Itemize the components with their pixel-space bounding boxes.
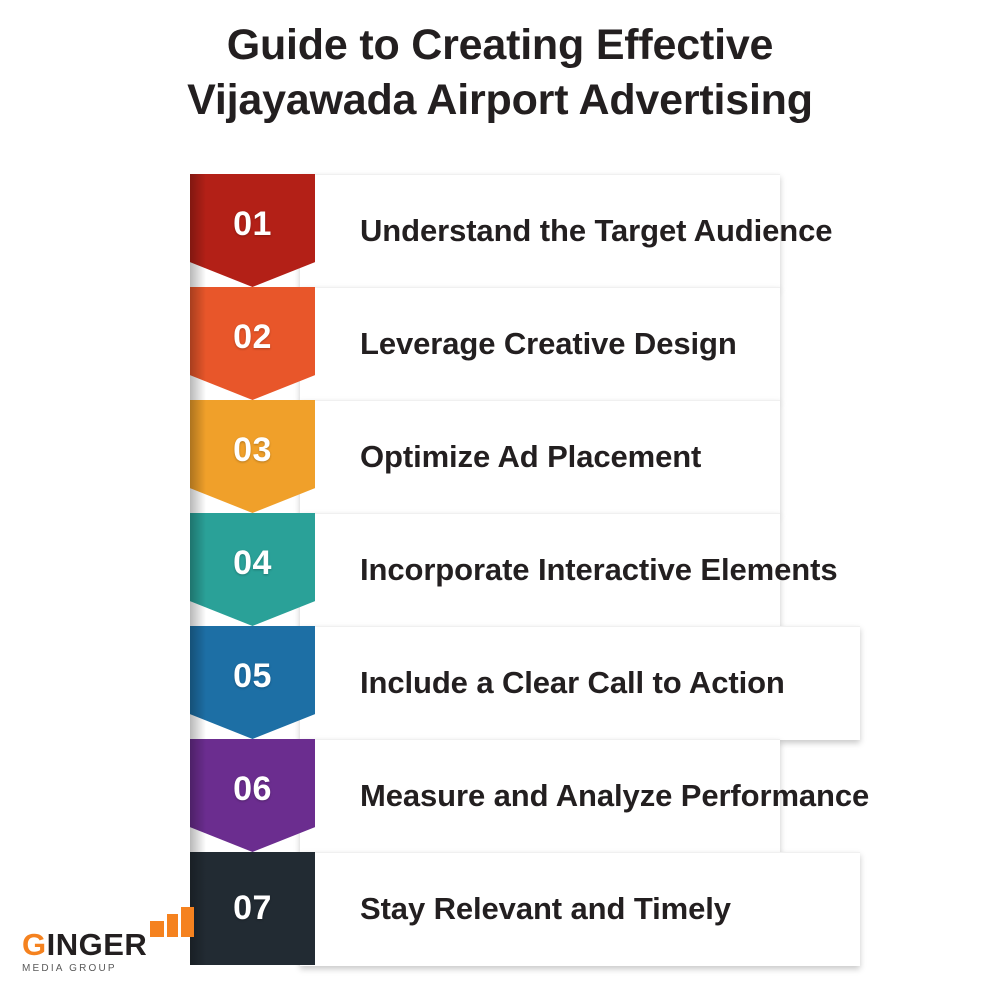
step-label: Optimize Ad Placement xyxy=(360,400,880,513)
list-item[interactable]: 04 Incorporate Interactive Elements xyxy=(190,513,890,626)
step-label: Stay Relevant and Timely xyxy=(360,852,880,965)
logo-initial: G xyxy=(22,927,47,962)
title-line-1: Guide to Creating Effective xyxy=(0,18,1000,73)
step-chevron-02: 02 xyxy=(190,287,315,400)
list-item[interactable]: 05 Include a Clear Call to Action xyxy=(190,626,890,739)
step-label: Measure and Analyze Performance xyxy=(360,739,880,852)
title-line-2: Vijayawada Airport Advertising xyxy=(0,73,1000,128)
logo-tagline: MEDIA GROUP xyxy=(22,963,222,974)
steps-list: 01 Understand the Target Audience 02 Lev… xyxy=(190,174,890,965)
step-number: 01 xyxy=(233,205,272,244)
step-label: Incorporate Interactive Elements xyxy=(360,513,880,626)
step-chevron-05: 05 xyxy=(190,626,315,739)
step-number: 02 xyxy=(233,318,272,357)
list-item[interactable]: 03 Optimize Ad Placement xyxy=(190,400,890,513)
step-chevron-06: 06 xyxy=(190,739,315,852)
step-label: Leverage Creative Design xyxy=(360,287,880,400)
list-item[interactable]: 06 Measure and Analyze Performance xyxy=(190,739,890,852)
step-chevron-04: 04 xyxy=(190,513,315,626)
list-item[interactable]: 02 Leverage Creative Design xyxy=(190,287,890,400)
page-title: Guide to Creating Effective Vijayawada A… xyxy=(0,18,1000,128)
step-number: 06 xyxy=(233,770,272,809)
step-number: 04 xyxy=(233,544,272,583)
ginger-bars-icon xyxy=(150,907,194,937)
list-item[interactable]: 01 Understand the Target Audience xyxy=(190,174,890,287)
step-chevron-03: 03 xyxy=(190,400,315,513)
step-number: 07 xyxy=(233,889,272,928)
step-label: Include a Clear Call to Action xyxy=(360,626,880,739)
step-number: 05 xyxy=(233,657,272,696)
logo[interactable]: GINGER MEDIA GROUP xyxy=(22,929,222,974)
step-chevron-01: 01 xyxy=(190,174,315,287)
step-label: Understand the Target Audience xyxy=(360,174,880,287)
logo-name: INGER xyxy=(47,927,148,962)
step-number: 03 xyxy=(233,431,272,470)
list-item[interactable]: 07 Stay Relevant and Timely xyxy=(190,852,890,965)
